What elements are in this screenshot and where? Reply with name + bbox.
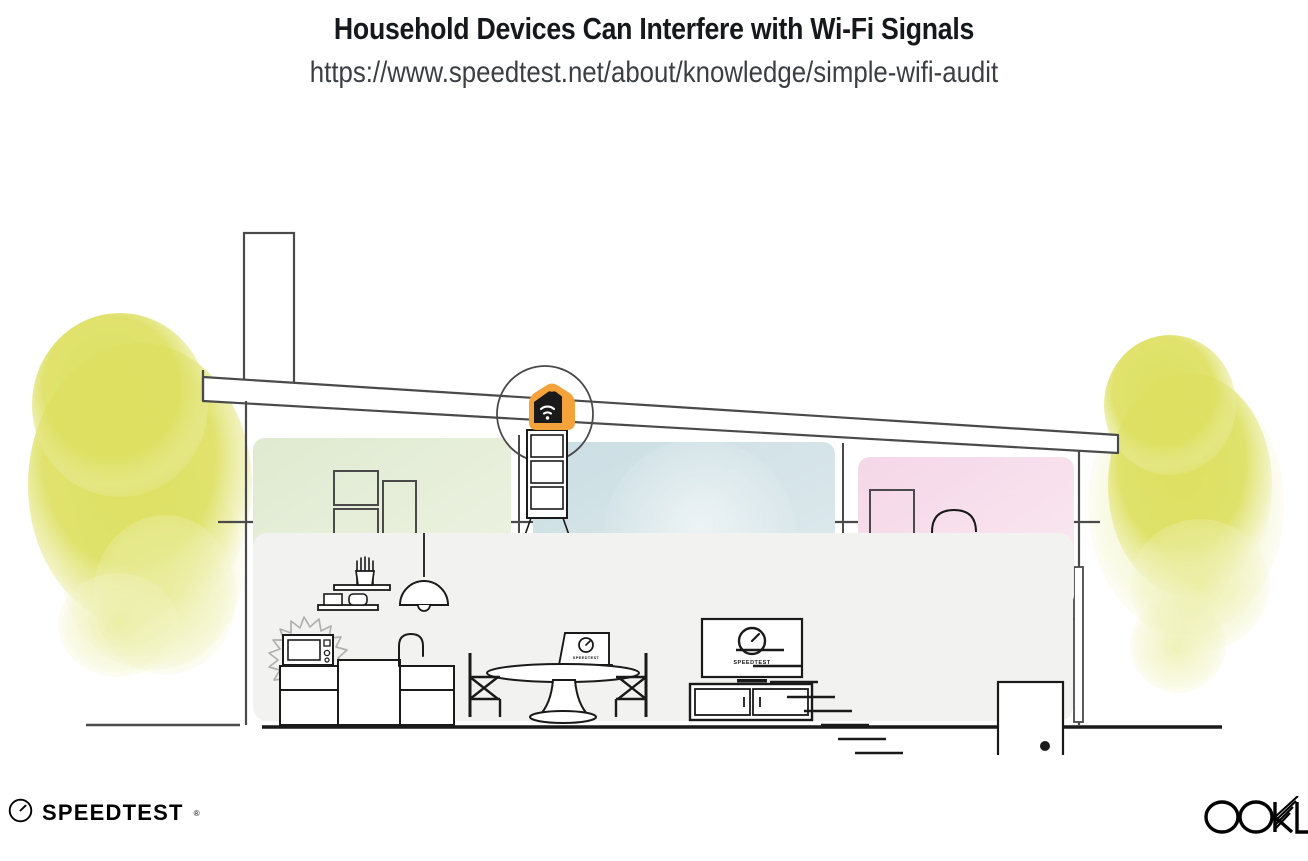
ookla-logo[interactable]: [1202, 796, 1308, 838]
foliage-right-tree: [1088, 335, 1284, 693]
speedometer-gauge-icon: [8, 798, 33, 828]
footer: SPEEDTEST ®: [0, 780, 1308, 861]
laptop-screen-label: SPEEDTEST: [573, 655, 600, 660]
chimney: [244, 233, 294, 385]
router-badge[interactable]: [529, 384, 575, 431]
speedtest-trademark: ®: [194, 809, 200, 818]
house-illustration: SPEEDTEST: [0, 105, 1308, 755]
microwave: [283, 635, 333, 665]
header: Household Devices Can Interfere with Wi-…: [0, 0, 1308, 91]
front-door[interactable]: [998, 682, 1063, 755]
speedtest-wordmark: SPEEDTEST: [42, 802, 184, 824]
foliage-left-tree: [28, 313, 252, 677]
media-console: [690, 684, 812, 720]
door-knob-icon[interactable]: [1040, 741, 1050, 751]
page-title: Household Devices Can Interfere with Wi-…: [92, 10, 1217, 47]
poster-page: Household Devices Can Interfere with Wi-…: [0, 0, 1308, 861]
kitchen-counters: [280, 660, 454, 725]
source-url: https://www.speedtest.net/about/knowledg…: [92, 55, 1217, 91]
speedtest-logo[interactable]: SPEEDTEST ®: [8, 798, 200, 828]
